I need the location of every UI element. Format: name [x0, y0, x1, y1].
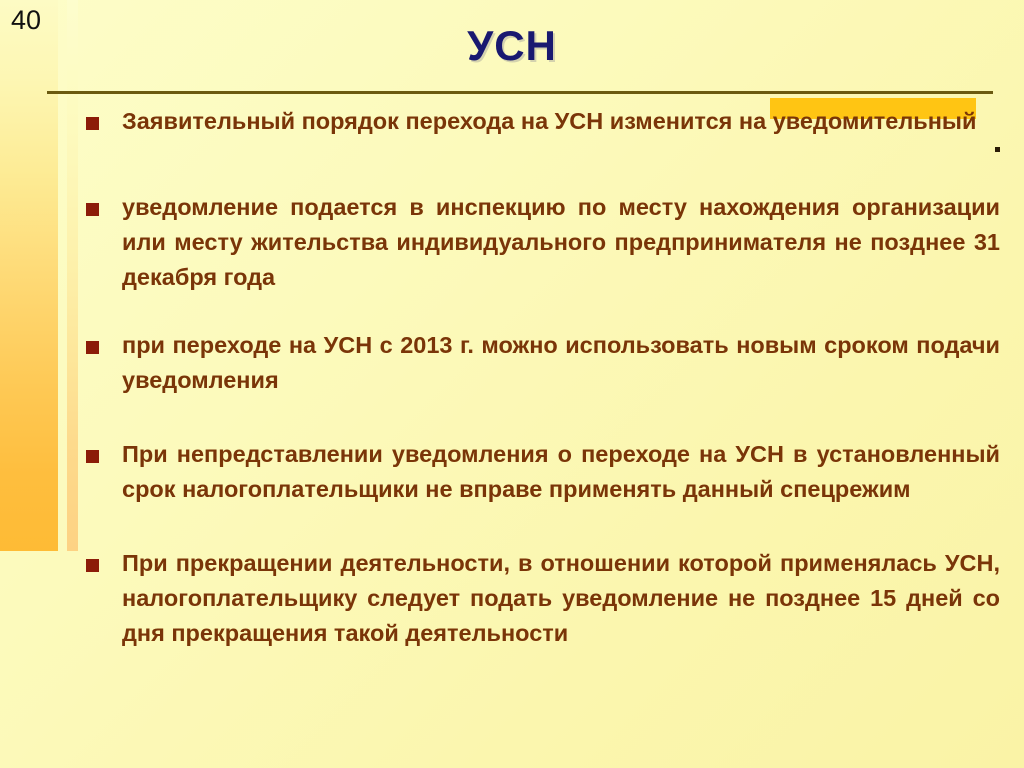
list-item: уведомление подается в инспекцию по мест… [84, 190, 1000, 295]
decorative-gradient-bar [0, 0, 58, 551]
list-item: при переходе на УСН с 2013 г. можно испо… [84, 328, 1000, 398]
square-bullet-icon [86, 117, 99, 130]
list-item-text: уведомление подается в инспекцию по мест… [122, 190, 1000, 295]
square-bullet-icon [86, 559, 99, 572]
title-divider-rule [47, 91, 993, 94]
square-bullet-icon [86, 450, 99, 463]
list-item-text: При непредставлении уведомления о перехо… [122, 437, 1000, 507]
bullet-list: Заявительный порядок перехода на УСН изм… [84, 104, 1000, 651]
list-item: При непредставлении уведомления о перехо… [84, 437, 1000, 507]
list-item: Заявительный порядок перехода на УСН изм… [84, 104, 1000, 139]
page-title: УСН [0, 22, 1024, 70]
list-item-text: Заявительный порядок перехода на УСН изм… [122, 104, 1000, 139]
decorative-gradient-bar-accent [67, 0, 78, 551]
list-item-text: При прекращении деятельности, в отношени… [122, 546, 1000, 651]
square-bullet-icon [86, 203, 99, 216]
presentation-slide: 40 УСН Заявительный порядок перехода на … [0, 0, 1024, 768]
square-bullet-icon [86, 341, 99, 354]
list-item: При прекращении деятельности, в отношени… [84, 546, 1000, 651]
list-item-text: при переходе на УСН с 2013 г. можно испо… [122, 328, 1000, 398]
